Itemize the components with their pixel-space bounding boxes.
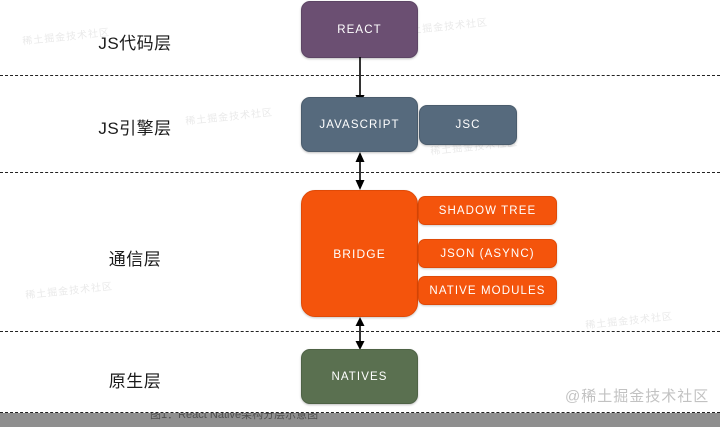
arrow-javascript-to-bridge: [350, 152, 370, 190]
node-json-async-label: JSON (ASYNC): [440, 248, 534, 260]
node-shadow-tree[interactable]: SHADOW TREE: [418, 196, 557, 225]
layer-label-js-engine: JS引擎层: [0, 114, 270, 139]
arrow-bridge-to-natives: [350, 317, 370, 350]
layer-label-comm: 通信层: [0, 245, 270, 270]
background-watermark: 稀土掘金技术社区: [584, 307, 673, 331]
diagram-canvas: 稀土掘金技术社区 稀土掘金技术社区 稀土掘金技术社区 稀土掘金技术社区 稀土掘金…: [0, 0, 720, 427]
node-jsc-label: JSC: [455, 119, 480, 131]
node-natives[interactable]: NATIVES: [301, 349, 418, 404]
cropped-caption-strip: 图1：React Native架构分层示意图: [0, 413, 720, 427]
node-native-modules[interactable]: NATIVE MODULES: [418, 276, 557, 305]
site-watermark: @稀土掘金技术社区: [565, 385, 709, 406]
node-native-modules-label: NATIVE MODULES: [429, 285, 545, 297]
layer-label-native: 原生层: [0, 367, 270, 392]
cropped-caption-text: 图1：React Native架构分层示意图: [150, 413, 318, 422]
layer-label-js-code: JS代码层: [0, 29, 270, 54]
node-json-async[interactable]: JSON (ASYNC): [418, 239, 557, 268]
node-javascript-label: JAVASCRIPT: [319, 119, 399, 131]
node-bridge-label: BRIDGE: [333, 247, 386, 261]
node-javascript[interactable]: JAVASCRIPT: [301, 97, 418, 152]
node-natives-label: NATIVES: [331, 371, 387, 383]
node-jsc[interactable]: JSC: [419, 105, 517, 145]
node-react-label: REACT: [337, 24, 381, 36]
node-bridge[interactable]: BRIDGE: [301, 190, 418, 317]
node-react[interactable]: REACT: [301, 1, 418, 58]
node-shadow-tree-label: SHADOW TREE: [439, 205, 537, 217]
background-watermark: 稀土掘金技术社区: [24, 277, 113, 301]
